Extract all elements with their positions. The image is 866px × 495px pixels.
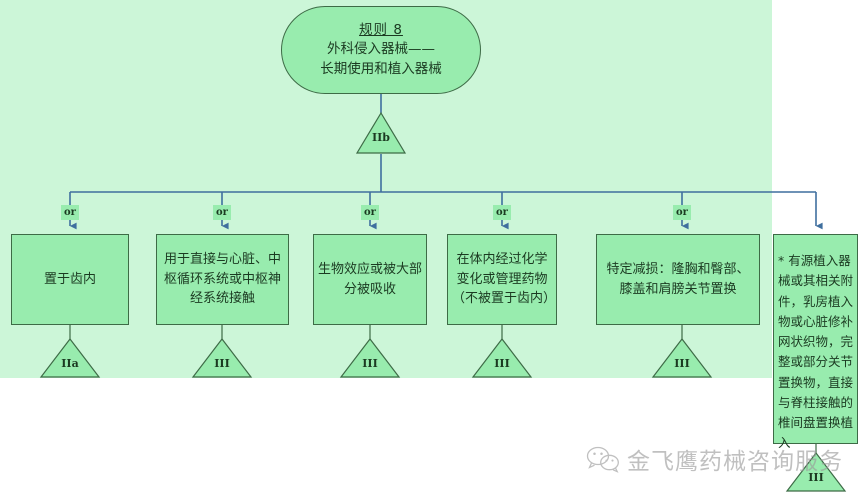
class-badge-4-label: III xyxy=(473,357,531,370)
watermark: 金飞鹰药械咨询服务 xyxy=(586,442,843,476)
or-label-2: or xyxy=(213,205,231,220)
wechat-icon xyxy=(586,445,620,473)
class-badge-1-label: IIa xyxy=(41,357,99,370)
class-badge-5: III xyxy=(653,340,711,380)
condition-box-4-text: 在体内经过化学变化或管理药物（不被置于齿内） xyxy=(452,250,552,309)
condition-box-2-text: 用于直接与心脏、中枢循环系统或中枢神经系统接触 xyxy=(161,250,284,309)
condition-box-4[interactable]: 在体内经过化学变化或管理药物（不被置于齿内） xyxy=(447,234,557,325)
class-badge-2: III xyxy=(193,340,251,380)
class-badge-3: III xyxy=(341,340,399,380)
condition-box-6-text: * 有源植入器械或其相关附件，乳房植入物或心脏修补网状织物，完整或部分关节置换物… xyxy=(778,251,853,454)
or-label-3: or xyxy=(361,205,379,220)
or-label-4: or xyxy=(493,205,511,220)
or-label-1: or xyxy=(61,205,79,220)
class-badge-3-label: III xyxy=(341,357,399,370)
condition-box-1-text: 置于齿内 xyxy=(44,270,96,290)
or-label-5: or xyxy=(673,205,691,220)
root-node-line3: 长期使用和植入器械 xyxy=(320,60,442,79)
class-badge-4: III xyxy=(473,340,531,380)
class-badge-1: IIa xyxy=(41,340,99,380)
class-badge-root-label: IIb xyxy=(352,131,410,144)
root-node-title: 规则 8 xyxy=(359,21,403,40)
root-node[interactable]: 规则 8 外科侵入器械—— 长期使用和植入器械 xyxy=(281,6,481,94)
condition-box-5-text: 特定减损：隆胸和臀部、膝盖和肩膀关节置换 xyxy=(601,260,755,299)
condition-box-3-text: 生物效应或被大部分被吸收 xyxy=(318,260,422,299)
condition-box-3[interactable]: 生物效应或被大部分被吸收 xyxy=(313,234,427,325)
condition-box-2[interactable]: 用于直接与心脏、中枢循环系统或中枢神经系统接触 xyxy=(156,234,289,325)
root-node-line2: 外科侵入器械—— xyxy=(327,40,435,59)
watermark-text: 金飞鹰药械咨询服务 xyxy=(627,442,843,476)
class-badge-root: IIb xyxy=(352,114,410,154)
condition-box-6[interactable]: * 有源植入器械或其相关附件，乳房植入物或心脏修补网状织物，完整或部分关节置换物… xyxy=(773,234,858,444)
class-badge-2-label: III xyxy=(193,357,251,370)
flowchart-canvas: 规则 8 外科侵入器械—— 长期使用和植入器械 IIb or or or or … xyxy=(0,0,866,495)
condition-box-1[interactable]: 置于齿内 xyxy=(11,234,129,325)
class-badge-5-label: III xyxy=(653,357,711,370)
condition-box-5[interactable]: 特定减损：隆胸和臀部、膝盖和肩膀关节置换 xyxy=(596,234,760,325)
